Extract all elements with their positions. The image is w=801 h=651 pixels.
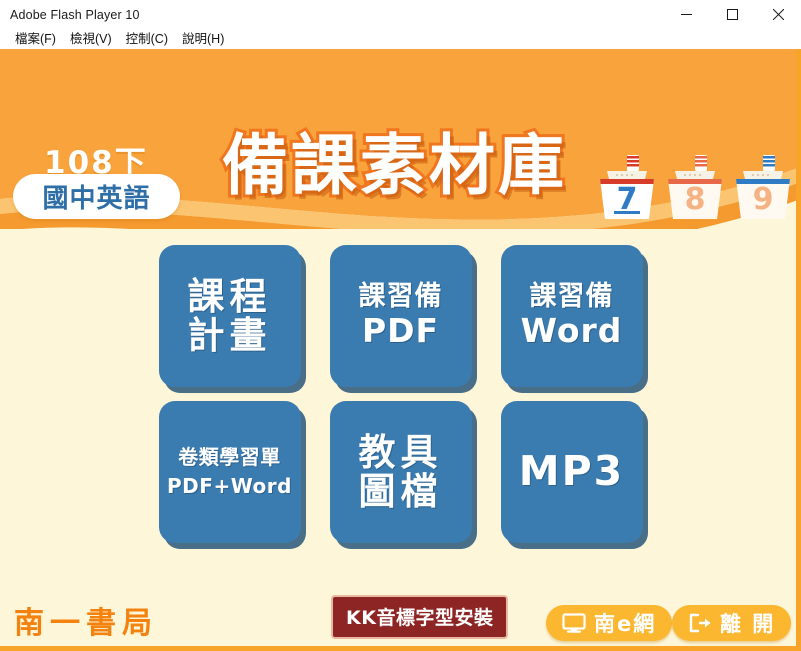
tile-label-line2: Word bbox=[521, 314, 623, 349]
resource-grid-row-1: 課程 計畫 課習備 PDF 課習備 Word bbox=[159, 245, 643, 387]
kk-font-install-button[interactable]: KK音標字型安裝 bbox=[331, 595, 508, 639]
resource-grid-row-2: 卷類學習單 PDF+Word 教具 圖檔 MP3 bbox=[159, 401, 643, 543]
tile-teaching-aids[interactable]: 教具 圖檔 bbox=[330, 401, 472, 543]
boat-icon-8: 8 bbox=[665, 153, 725, 221]
svg-text:8: 8 bbox=[685, 182, 706, 217]
menu-item-control[interactable]: 控制(C) bbox=[119, 29, 175, 49]
tile-course-plan[interactable]: 課程 計畫 bbox=[159, 245, 301, 387]
footer-bar: 南一書局 KK音標字型安裝 南e網 bbox=[0, 591, 801, 651]
svg-text:9: 9 bbox=[753, 182, 774, 217]
monitor-icon bbox=[562, 613, 586, 633]
tile-label-line1: 卷類學習單 bbox=[178, 447, 281, 468]
tile-lesson-prep-pdf[interactable]: 課習備 PDF bbox=[330, 245, 472, 387]
flash-player-window: Adobe Flash Player 10 檔案(F) 檢視(V bbox=[0, 0, 801, 651]
grade-tab-7[interactable]: 7 bbox=[597, 153, 657, 221]
tile-label-line1: 課程 bbox=[188, 277, 272, 316]
tile-label-line1: MP3 bbox=[519, 450, 624, 493]
menu-item-help[interactable]: 說明(H) bbox=[175, 29, 231, 49]
tile-label-line2: 計畫 bbox=[188, 316, 272, 355]
subject-badge: 國中英語 bbox=[13, 174, 180, 219]
stage-edge-right bbox=[796, 49, 801, 651]
exit-label: 離 開 bbox=[720, 608, 775, 638]
tile-label-line1: 課習備 bbox=[530, 283, 614, 312]
resource-grid: 課程 計畫 課習備 PDF 課習備 Word 卷類學習單 PDF+Word bbox=[0, 245, 801, 543]
minimize-button[interactable] bbox=[663, 0, 709, 29]
boat-icon-7: 7 bbox=[597, 153, 657, 221]
window-controls bbox=[663, 0, 801, 29]
tile-label-line2: PDF+Word bbox=[167, 476, 292, 497]
close-icon bbox=[773, 9, 784, 20]
maximize-icon bbox=[727, 9, 738, 20]
close-button[interactable] bbox=[755, 0, 801, 29]
exit-icon bbox=[688, 613, 712, 633]
tile-mp3[interactable]: MP3 bbox=[501, 401, 643, 543]
nan-e-web-button[interactable]: 南e網 bbox=[546, 605, 672, 641]
tile-label-line2: 圖檔 bbox=[359, 472, 443, 511]
menu-bar: 檔案(F) 檢視(V) 控制(C) 說明(H) bbox=[0, 29, 801, 49]
maximize-button[interactable] bbox=[709, 0, 755, 29]
grade-tabs: 7 8 bbox=[597, 153, 793, 221]
minimize-icon bbox=[681, 9, 692, 20]
nan-e-web-label: 南e網 bbox=[594, 608, 656, 638]
page-title: 備課素材庫 bbox=[222, 112, 567, 208]
window-title: Adobe Flash Player 10 bbox=[0, 8, 140, 22]
publisher-logo: 南一書局 bbox=[14, 598, 158, 642]
boat-icon-9: 9 bbox=[733, 153, 793, 221]
menu-item-file[interactable]: 檔案(F) bbox=[8, 29, 63, 49]
tile-worksheets[interactable]: 卷類學習單 PDF+Word bbox=[159, 401, 301, 543]
flash-stage: 108下 國中英語 備課素材庫 7 bbox=[0, 49, 801, 651]
tile-label-line2: PDF bbox=[362, 314, 439, 349]
exit-button[interactable]: 離 開 bbox=[672, 605, 791, 641]
grade-tab-9[interactable]: 9 bbox=[733, 153, 793, 221]
grade-tab-8[interactable]: 8 bbox=[665, 153, 725, 221]
subject-label: 國中英語 bbox=[42, 178, 150, 215]
tile-label-line1: 課習備 bbox=[359, 283, 443, 312]
tile-lesson-prep-word[interactable]: 課習備 Word bbox=[501, 245, 643, 387]
title-bar: Adobe Flash Player 10 bbox=[0, 0, 801, 29]
tile-label-line1: 教具 bbox=[359, 433, 443, 472]
stage-edge-bottom bbox=[0, 646, 801, 651]
menu-item-view[interactable]: 檢視(V) bbox=[63, 29, 119, 49]
